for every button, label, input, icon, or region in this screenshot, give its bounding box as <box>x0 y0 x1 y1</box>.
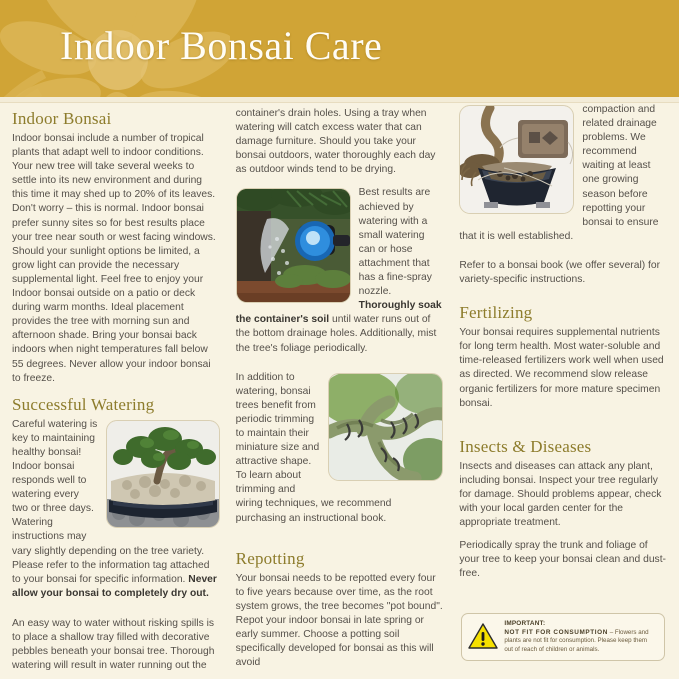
paragraph-indoor-bonsai: Indoor bonsai include a number of tropic… <box>12 132 220 386</box>
warning-line-not-fit: NOT FIT FOR CONSUMPTION <box>504 629 608 636</box>
warning-line-important: IMPORTANT: <box>504 620 656 628</box>
repot-text-image-block: compaction and related drainage problems… <box>459 103 667 253</box>
paragraph-drain-holes: container's drain holes. Using a tray wh… <box>236 107 444 177</box>
column-middle: container's drain holes. Using a tray wh… <box>236 103 444 679</box>
bonsai-in-pot-image <box>107 421 219 527</box>
paragraph-insects-a: Insects and diseases can attack any plan… <box>459 460 667 530</box>
page-title: Indoor Bonsai Care <box>60 22 382 69</box>
section-heading-indoor-bonsai: Indoor Bonsai <box>12 109 220 129</box>
warning-triangle-icon <box>468 623 498 650</box>
paragraph-insects-b: Periodically spray the trunk and foliage… <box>459 539 667 581</box>
page-header: Indoor Bonsai Care <box>0 0 679 97</box>
spray-text-image-block: Best results are achieved by watering wi… <box>236 186 444 364</box>
bonsai-branches-photo <box>328 373 443 481</box>
section-heading-insects-diseases: Insects & Diseases <box>459 437 667 457</box>
section-heading-fertilizing: Fertilizing <box>459 303 667 323</box>
warning-text: IMPORTANT: NOT FIT FOR CONSUMPTION – Flo… <box>504 620 656 654</box>
paragraph-fertilizing: Your bonsai requires supplemental nutrie… <box>459 326 667 411</box>
paragraph-repotting: Your bonsai needs to be repotted every f… <box>236 572 444 671</box>
section-heading-successful-watering: Successful Watering <box>12 395 220 415</box>
bonsai-branches-image <box>329 374 442 480</box>
important-warning-box: IMPORTANT: NOT FIT FOR CONSUMPTION – Flo… <box>461 613 665 661</box>
spray-nozzle-image <box>237 189 350 302</box>
repotting-drainage-photo <box>459 105 574 214</box>
column-left: Indoor Bonsai Indoor bonsai include a nu… <box>12 103 220 679</box>
bonsai-in-pot-photo <box>106 420 220 528</box>
paragraph-watering-b: An easy way to water without risking spi… <box>12 617 220 673</box>
column-right: compaction and related drainage problems… <box>459 103 667 679</box>
watering-text-image-block: Careful watering is key to maintaining h… <box>12 418 220 610</box>
content-columns: Indoor Bonsai Indoor bonsai include a nu… <box>0 103 679 679</box>
repotting-drainage-image <box>460 106 573 213</box>
bonsai-care-page: Indoor Bonsai Care Indoor Bonsai Indoor … <box>0 0 679 679</box>
paragraph-refer-book: Refer to a bonsai book (we offer several… <box>459 259 667 287</box>
best-results-plain-a: Best results are achieved by watering wi… <box>359 187 432 297</box>
spray-nozzle-photo <box>236 188 351 303</box>
section-heading-repotting: Repotting <box>236 549 444 569</box>
trimming-text-image-block: In addition to watering, bonsai trees be… <box>236 371 444 535</box>
